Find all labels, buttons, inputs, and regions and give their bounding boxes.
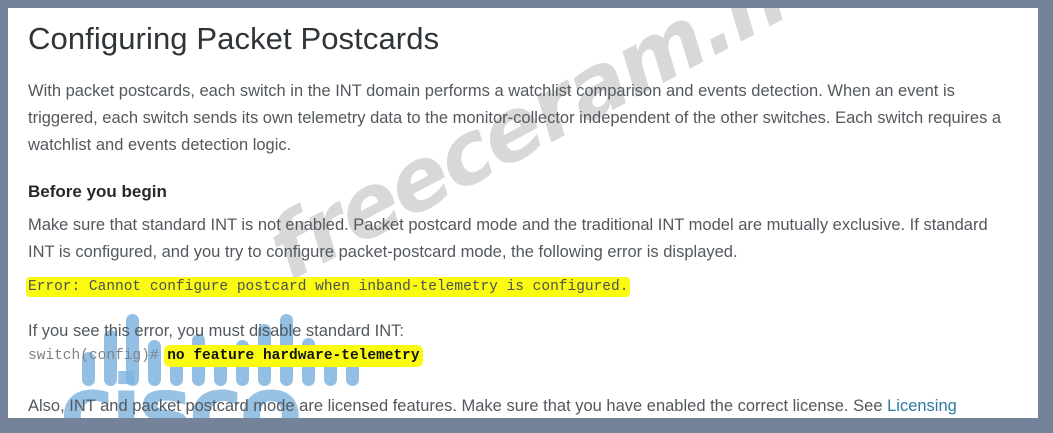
intro-paragraph: With packet postcards, each switch in th… bbox=[28, 78, 1018, 158]
page-title: Configuring Packet Postcards bbox=[28, 22, 1018, 56]
error-message-block: Error: Cannot configure postcard when in… bbox=[28, 276, 1018, 298]
document-content: Configuring Packet Postcards With packet… bbox=[8, 8, 1038, 418]
disable-instruction-paragraph: If you see this error, you must disable … bbox=[28, 318, 1018, 345]
error-message-text: Error: Cannot configure postcard when in… bbox=[28, 279, 628, 295]
before-you-begin-paragraph: Make sure that standard INT is not enabl… bbox=[28, 212, 1018, 265]
license-text-before-link: Also, INT and packet postcard mode are l… bbox=[28, 397, 887, 415]
cli-command: no feature hardware-telemetry bbox=[167, 348, 419, 364]
document-page: freeceram.net cisco Configuring Packet P… bbox=[8, 8, 1038, 418]
section-heading-before-you-begin: Before you begin bbox=[28, 180, 1018, 204]
cli-command-block: switch(config)# no feature hardware-tele… bbox=[28, 345, 1018, 367]
license-paragraph: Also, INT and packet postcard mode are l… bbox=[28, 393, 1018, 418]
cli-prompt: switch(config)# bbox=[28, 348, 167, 364]
